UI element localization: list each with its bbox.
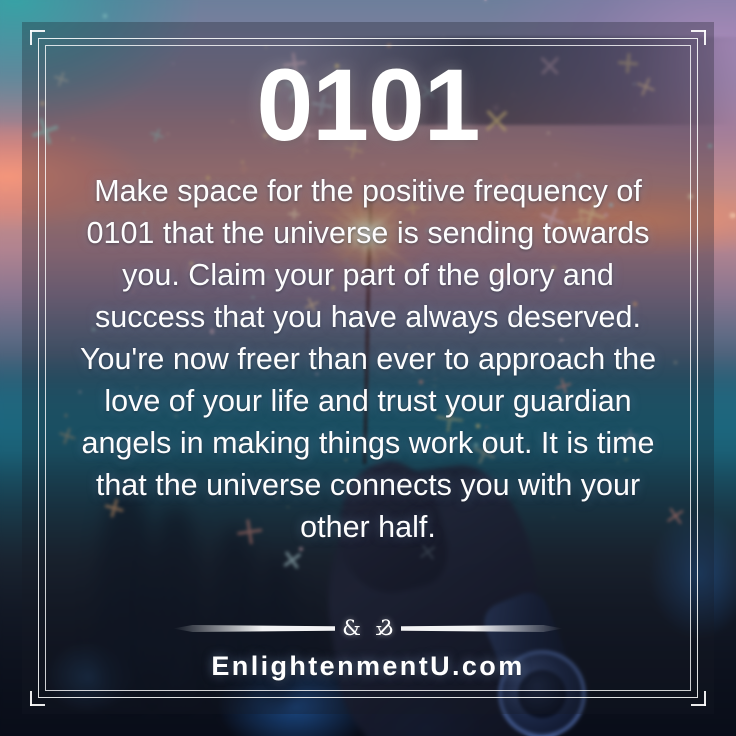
- ornament-divider: & &: [173, 618, 563, 639]
- quote-body: Make space for the positive frequency of…: [72, 170, 664, 548]
- page-title: 0101: [257, 54, 480, 156]
- website-label: EnlightenmentU.com: [211, 651, 524, 686]
- quote-card: 0101 Make space for the positive frequen…: [0, 0, 736, 736]
- divider-bar-right: [401, 625, 563, 632]
- card-content: 0101 Make space for the positive frequen…: [50, 46, 686, 686]
- flourish-left-icon: &: [335, 618, 368, 639]
- flourish-right-icon: &: [368, 618, 401, 639]
- divider-bar-left: [173, 625, 335, 632]
- card-footer: & & EnlightenmentU.com: [50, 618, 686, 686]
